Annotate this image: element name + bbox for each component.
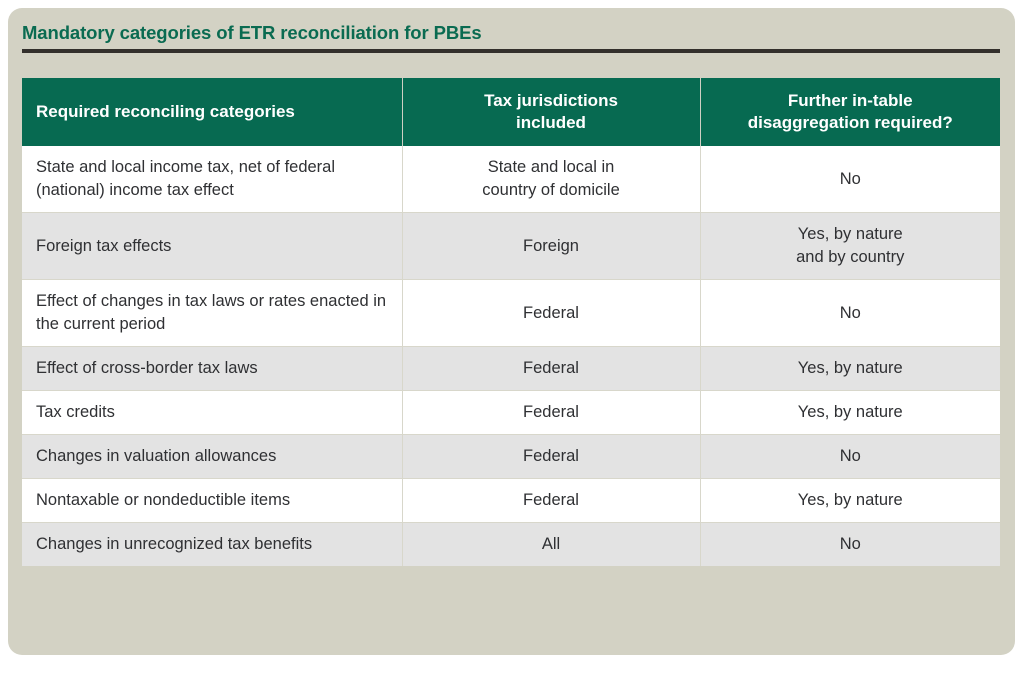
- cell-category: Changes in unrecognized tax benefits: [22, 523, 402, 567]
- table-body: State and local income tax, net of feder…: [22, 146, 1000, 566]
- cell-category: Foreign tax effects: [22, 213, 402, 280]
- table-row: Nontaxable or nondeductible items Federa…: [22, 479, 1000, 523]
- title-block: Mandatory categories of ETR reconciliati…: [22, 21, 1000, 53]
- column-header-tax-jurisdictions-included: Tax jurisdictions included: [402, 78, 700, 146]
- cell-jurisdictions: All: [402, 523, 700, 567]
- cell-jurisdictions: Federal: [402, 435, 700, 479]
- cell-jurisdictions: Federal: [402, 391, 700, 435]
- table-row: State and local income tax, net of feder…: [22, 146, 1000, 213]
- cell-line-1: State and local in: [417, 156, 686, 179]
- cell-disaggregation: Yes, by nature: [700, 479, 1000, 523]
- cell-disaggregation: Yes, by nature: [700, 347, 1000, 391]
- column-header-line-1: Tax jurisdictions: [417, 90, 686, 112]
- table-header-row: Required reconciling categories Tax juri…: [22, 78, 1000, 146]
- cell-category: Effect of cross-border tax laws: [22, 347, 402, 391]
- cell-disaggregation: No: [700, 146, 1000, 213]
- cell-line-2: country of domicile: [417, 179, 686, 202]
- column-header-further-in-table-disaggregation-required: Further in-table disaggregation required…: [700, 78, 1000, 146]
- cell-category: State and local income tax, net of feder…: [22, 146, 402, 213]
- title-divider: [22, 49, 1000, 53]
- cell-disaggregation: Yes, by nature: [700, 391, 1000, 435]
- table-row: Effect of changes in tax laws or rates e…: [22, 280, 1000, 347]
- cell-line-1: Yes, by nature: [715, 223, 987, 246]
- cell-line-1: No: [715, 168, 987, 191]
- cell-jurisdictions: State and local in country of domicile: [402, 146, 700, 213]
- content-panel: Mandatory categories of ETR reconciliati…: [8, 8, 1015, 655]
- column-header-required-reconciling-categories: Required reconciling categories: [22, 78, 402, 146]
- cell-jurisdictions: Federal: [402, 347, 700, 391]
- cell-disaggregation: No: [700, 435, 1000, 479]
- cell-category: Nontaxable or nondeductible items: [22, 479, 402, 523]
- table-row: Foreign tax effects Foreign Yes, by natu…: [22, 213, 1000, 280]
- column-header-line-2: included: [417, 112, 686, 134]
- cell-category: Tax credits: [22, 391, 402, 435]
- cell-jurisdictions: Federal: [402, 280, 700, 347]
- column-header-line-2: disaggregation required?: [715, 112, 987, 134]
- table-row: Tax credits Federal Yes, by nature: [22, 391, 1000, 435]
- cell-line-2: and by country: [715, 246, 987, 269]
- table-row: Changes in valuation allowances Federal …: [22, 435, 1000, 479]
- cell-category: Changes in valuation allowances: [22, 435, 402, 479]
- cell-disaggregation: Yes, by nature and by country: [700, 213, 1000, 280]
- table-row: Changes in unrecognized tax benefits All…: [22, 523, 1000, 567]
- cell-disaggregation: No: [700, 523, 1000, 567]
- cell-disaggregation: No: [700, 280, 1000, 347]
- cell-jurisdictions: Foreign: [402, 213, 700, 280]
- etr-reconciliation-table: Required reconciling categories Tax juri…: [22, 78, 1000, 566]
- table-header: Required reconciling categories Tax juri…: [22, 78, 1000, 146]
- column-header-line-1: Further in-table: [715, 90, 987, 112]
- cell-category: Effect of changes in tax laws or rates e…: [22, 280, 402, 347]
- page-title: Mandatory categories of ETR reconciliati…: [22, 21, 1000, 45]
- cell-jurisdictions: Federal: [402, 479, 700, 523]
- table-row: Effect of cross-border tax laws Federal …: [22, 347, 1000, 391]
